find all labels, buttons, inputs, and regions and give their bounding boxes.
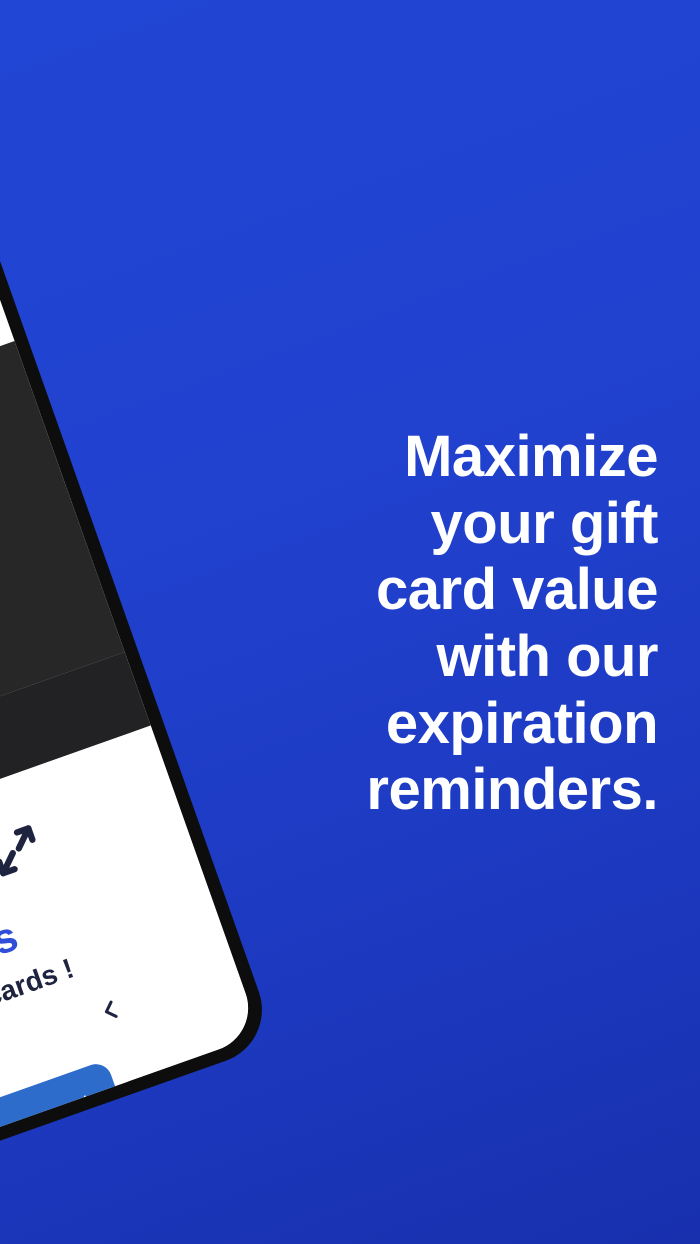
page-title: Maximize your gift card value with our e… — [238, 424, 658, 824]
gift-card-value-row[interactable]: 100 $ — [0, 1060, 134, 1167]
screenshot-stage: remaining Your gift cards Manage your gi… — [0, 0, 700, 1244]
expand-arrows-icon[interactable] — [0, 814, 53, 888]
phone-mockup: remaining Your gift cards Manage your gi… — [0, 213, 277, 1183]
content-divider — [0, 1149, 150, 1166]
phone-bezel: remaining Your gift cards Manage your gi… — [0, 213, 277, 1183]
chevron-left-icon[interactable] — [92, 988, 129, 1032]
phone-screen: remaining Your gift cards Manage your gi… — [0, 230, 260, 1167]
app-content-area: Your gift cards Manage your gift cards !… — [0, 726, 260, 1167]
app-subtitle: Manage your gift cards ! — [0, 952, 78, 1090]
gift-card-amount: 100 $ — [10, 1088, 106, 1154]
